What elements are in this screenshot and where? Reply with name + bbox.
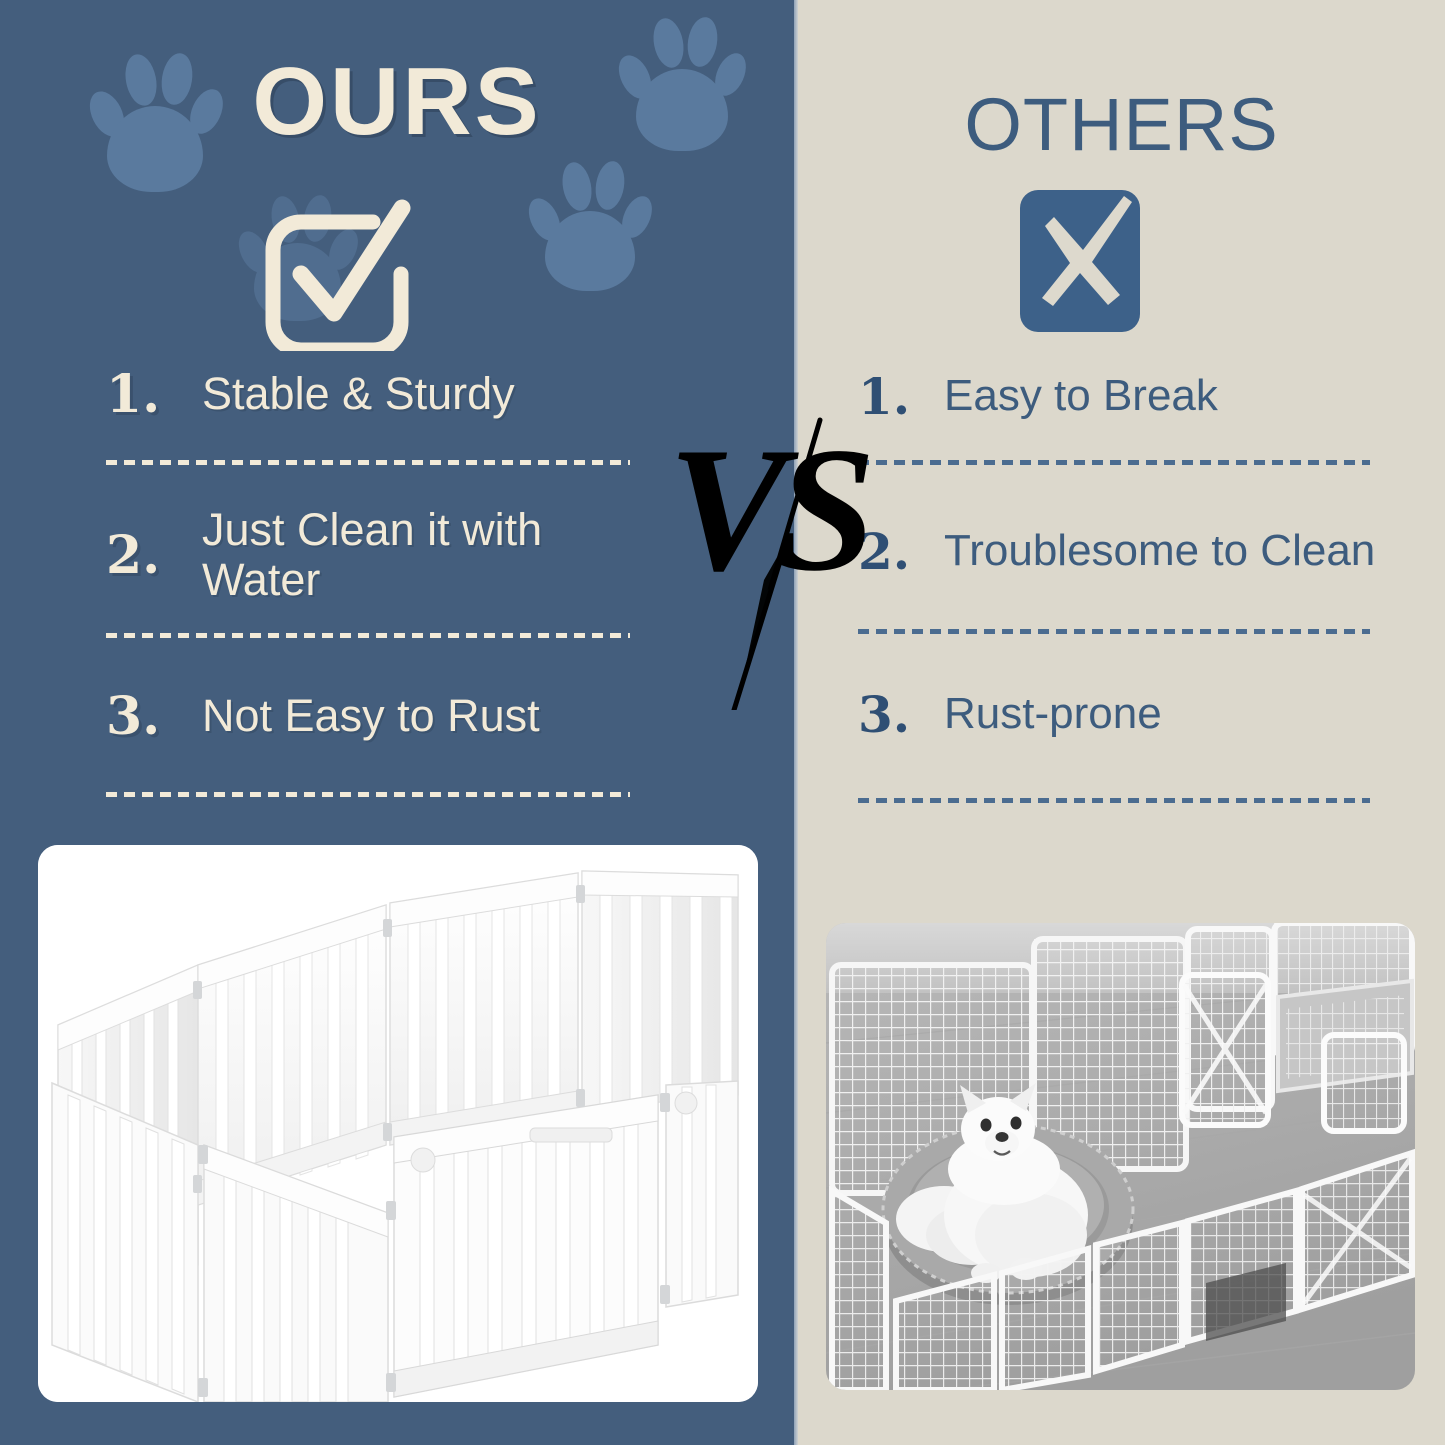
ours-title: OURS: [0, 54, 794, 150]
list-item-number: 1.: [106, 364, 202, 425]
divider-dashed: [858, 629, 1370, 634]
ours-product-photo: [38, 845, 758, 1402]
list-item-label: Just Clean it with Water: [202, 505, 634, 606]
others-title: OTHERS: [798, 88, 1445, 162]
list-item-label: Not Easy to Rust: [202, 691, 634, 741]
checkmark-box-icon: [255, 196, 415, 351]
ours-feature-list: 1. Stable & Sturdy 2. Just Clean it with…: [106, 358, 634, 797]
divider-dashed: [858, 798, 1370, 803]
divider-dashed: [106, 460, 630, 465]
others-product-photo: [826, 923, 1415, 1390]
list-item-number: 2.: [858, 522, 944, 581]
list-item: 3. Rust-prone: [858, 678, 1426, 750]
x-box-icon: [1020, 190, 1140, 332]
divider-dashed: [106, 792, 630, 797]
list-item-number: 3.: [858, 685, 944, 744]
list-item: 2. Just Clean it with Water: [106, 495, 634, 615]
list-item-number: 2.: [106, 525, 202, 586]
others-panel: OTHERS 1. Easy to Break 2. Troublesome t…: [798, 0, 1445, 1445]
list-item-label: Easy to Break: [944, 371, 1426, 420]
list-item-number: 3.: [106, 686, 202, 747]
divider-dashed: [858, 460, 1370, 465]
comparison-infographic: OURS 1. Stable & Sturdy 2. Just Clean it…: [0, 0, 1445, 1445]
divider-dashed: [106, 633, 630, 638]
list-item-label: Troublesome to Clean: [944, 526, 1426, 575]
list-item: 1. Easy to Break: [858, 360, 1426, 432]
list-item-number: 1.: [858, 367, 944, 426]
list-item: 3. Not Easy to Rust: [106, 680, 634, 752]
list-item-label: Stable & Sturdy: [202, 369, 634, 419]
list-item: 1. Stable & Sturdy: [106, 358, 634, 430]
list-item-label: Rust-prone: [944, 689, 1426, 738]
paw-print-icon: [528, 152, 650, 294]
list-item: 2. Troublesome to Clean: [858, 515, 1426, 587]
ours-panel: OURS 1. Stable & Sturdy 2. Just Clean it…: [0, 0, 794, 1445]
others-feature-list: 1. Easy to Break 2. Troublesome to Clean…: [858, 360, 1426, 803]
